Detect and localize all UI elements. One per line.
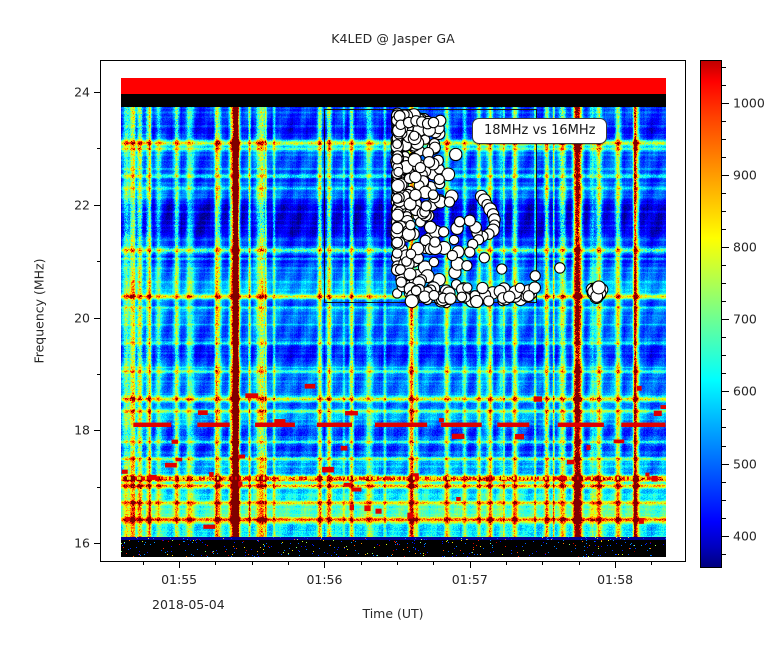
scatter-point bbox=[471, 295, 483, 307]
colorbar-tick-minor bbox=[722, 85, 726, 86]
figure-canvas: K4LED @ Jasper GA 18MHz vs 16MHz 1618202… bbox=[0, 0, 783, 656]
colorbar-tick-minor bbox=[722, 337, 726, 338]
y-tick-label: 24 bbox=[74, 85, 90, 100]
scatter-point bbox=[406, 249, 415, 258]
scatter-point bbox=[457, 292, 467, 302]
scatter-point bbox=[428, 117, 438, 127]
colorbar-tick-label: 900 bbox=[733, 168, 757, 183]
scatter-point bbox=[410, 189, 421, 200]
y-tick-minor bbox=[97, 261, 101, 262]
y-tick-label: 20 bbox=[74, 310, 90, 325]
colorbar-tick-major bbox=[722, 247, 729, 248]
scatter-point bbox=[530, 271, 540, 281]
scatter-point bbox=[415, 163, 425, 173]
scatter-point bbox=[555, 263, 565, 273]
scatter-point bbox=[439, 227, 449, 237]
scatter-point bbox=[406, 220, 415, 229]
scatter-point bbox=[523, 291, 534, 302]
scatter-point bbox=[392, 194, 402, 204]
scatter-point bbox=[434, 174, 444, 184]
scatter-point bbox=[445, 293, 456, 304]
scatter-point bbox=[592, 281, 605, 294]
colorbar-tick-major bbox=[722, 536, 729, 537]
scatter-point bbox=[421, 201, 431, 211]
colorbar-tick-minor bbox=[722, 301, 726, 302]
x-tick-minor bbox=[288, 561, 289, 565]
y-tick-major bbox=[94, 543, 101, 544]
colorbar-tick-minor bbox=[722, 482, 726, 483]
scatter-point bbox=[428, 190, 438, 200]
scatter-point bbox=[515, 283, 524, 292]
scatter-point bbox=[484, 296, 494, 306]
colorbar-tick-minor bbox=[722, 229, 726, 230]
colorbar-tick-minor bbox=[722, 409, 726, 410]
date-label: 2018-05-04 bbox=[152, 597, 225, 612]
y-tick-minor bbox=[97, 374, 101, 375]
x-tick-minor bbox=[361, 561, 362, 565]
colorbar-tick-label: 400 bbox=[733, 528, 757, 543]
y-tick-major bbox=[94, 318, 101, 319]
colorbar-tick-minor bbox=[722, 518, 726, 519]
colorbar-tick-minor bbox=[722, 265, 726, 266]
y-axis-label: Frequency (MHz) bbox=[32, 258, 47, 363]
colorbar-tick-minor bbox=[722, 211, 726, 212]
plot-area: 18MHz vs 16MHz bbox=[101, 61, 685, 561]
main-axes: 18MHz vs 16MHz 1618202224 01:5501:5601:5… bbox=[100, 60, 686, 562]
scatter-point bbox=[429, 257, 438, 266]
scatter-point bbox=[429, 290, 439, 300]
scatter-point bbox=[394, 167, 403, 176]
colorbar-tick-label: 600 bbox=[733, 384, 757, 399]
y-tick-major bbox=[94, 92, 101, 93]
scatter-point bbox=[464, 215, 475, 226]
x-tick-major bbox=[615, 561, 616, 568]
colorbar-tick-minor bbox=[722, 373, 726, 374]
scatter-point bbox=[410, 131, 419, 140]
scatter-point bbox=[392, 222, 403, 233]
colorbar-tick-minor bbox=[722, 193, 726, 194]
x-tick-minor bbox=[579, 561, 580, 565]
scatter-point bbox=[463, 283, 472, 292]
x-tick-minor bbox=[542, 561, 543, 565]
colorbar-tick-major bbox=[722, 391, 729, 392]
colorbar-tick-minor bbox=[722, 157, 726, 158]
colorbar-tick-minor bbox=[722, 500, 726, 501]
y-tick-minor bbox=[97, 148, 101, 149]
scatter-point bbox=[455, 217, 465, 227]
colorbar-tick-major bbox=[722, 103, 729, 104]
colorbar-tick-label: 700 bbox=[733, 312, 757, 327]
x-tick-minor bbox=[506, 561, 507, 565]
colorbar-tick-minor bbox=[722, 355, 726, 356]
colorbar-tick-label: 1000 bbox=[733, 96, 765, 111]
colorbar-tick-minor bbox=[722, 139, 726, 140]
x-tick-minor bbox=[252, 561, 253, 565]
chart-title: K4LED @ Jasper GA bbox=[100, 31, 686, 46]
x-tick-major bbox=[324, 561, 325, 568]
scatter-point bbox=[392, 249, 402, 259]
y-tick-label: 18 bbox=[74, 423, 90, 438]
colorbar-tick-minor bbox=[722, 446, 726, 447]
scatter-point bbox=[392, 180, 405, 193]
colorbar-tick-minor bbox=[722, 283, 726, 284]
y-tick-label: 22 bbox=[74, 197, 90, 212]
scatter-point bbox=[444, 197, 454, 207]
y-tick-minor bbox=[97, 487, 101, 488]
x-tick-minor bbox=[143, 561, 144, 565]
scatter-point bbox=[479, 253, 489, 263]
scatter-point bbox=[449, 235, 458, 244]
scatter-point bbox=[411, 286, 421, 296]
x-tick-minor bbox=[433, 561, 434, 565]
scatter-point bbox=[392, 237, 402, 247]
x-axis-label: Time (UT) bbox=[362, 606, 423, 621]
x-tick-label: 01:55 bbox=[161, 572, 197, 587]
x-tick-label: 01:56 bbox=[306, 572, 342, 587]
colorbar-tick-major bbox=[722, 464, 729, 465]
scatter-point bbox=[447, 250, 457, 260]
x-tick-minor bbox=[215, 561, 216, 565]
x-tick-major bbox=[179, 561, 180, 568]
scatter-point bbox=[392, 154, 402, 164]
scatter-point bbox=[393, 140, 402, 149]
scatter-point bbox=[497, 264, 507, 274]
colorbar bbox=[700, 60, 722, 568]
x-tick-label: 01:58 bbox=[597, 572, 633, 587]
x-tick-major bbox=[470, 561, 471, 568]
scatter-point bbox=[465, 247, 475, 257]
x-tick-minor bbox=[651, 561, 652, 565]
scatter-point bbox=[392, 209, 404, 221]
colorbar-tick-minor bbox=[722, 554, 726, 555]
x-tick-minor bbox=[397, 561, 398, 565]
colorbar-tick-label: 800 bbox=[733, 240, 757, 255]
colorbar-tick-major bbox=[722, 175, 729, 176]
y-tick-label: 16 bbox=[74, 535, 90, 550]
scatter-point bbox=[504, 291, 515, 302]
scatter-point bbox=[430, 237, 440, 247]
colorbar-tick-label: 500 bbox=[733, 456, 757, 471]
x-tick-label: 01:57 bbox=[452, 572, 488, 587]
scatter-point bbox=[450, 148, 462, 160]
scatter-point bbox=[462, 261, 472, 271]
colorbar-tick-minor bbox=[722, 427, 726, 428]
colorbar-tick-minor bbox=[722, 67, 726, 68]
annotation-label: 18MHz vs 16MHz bbox=[472, 118, 607, 144]
scatter-point bbox=[425, 221, 437, 233]
colorbar-tick-major bbox=[722, 319, 729, 320]
colorbar-tick-minor bbox=[722, 121, 726, 122]
scatter-point bbox=[405, 295, 418, 308]
y-tick-major bbox=[94, 430, 101, 431]
y-tick-major bbox=[94, 205, 101, 206]
